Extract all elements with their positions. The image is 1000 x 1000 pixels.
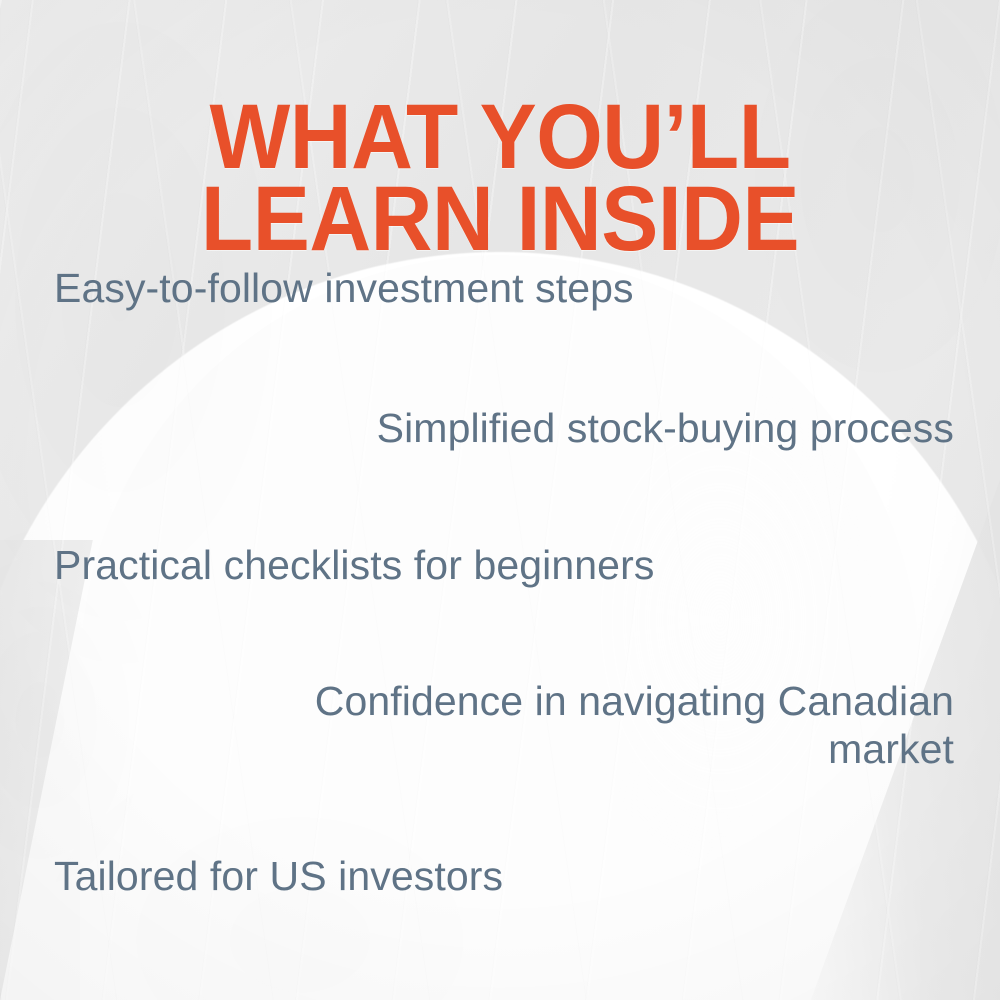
benefits-list: Easy-to-follow investment steps Simplifi… — [0, 250, 1000, 930]
list-item: Simplified stock-buying process — [377, 405, 954, 453]
list-item: Practical checklists for beginners — [54, 542, 654, 590]
list-item: Tailored for US investors — [54, 853, 503, 901]
list-item: Confidence in navigating Canadian market — [184, 678, 954, 773]
list-item: Easy-to-follow investment steps — [54, 265, 634, 313]
poster-content: WHAT YOU’LL LEARN INSIDE Easy-to-follow … — [0, 0, 1000, 1000]
poster-canvas: WHAT YOU’LL LEARN INSIDE Easy-to-follow … — [0, 0, 1000, 1000]
page-title: WHAT YOU’LL LEARN INSIDE — [35, 96, 965, 262]
